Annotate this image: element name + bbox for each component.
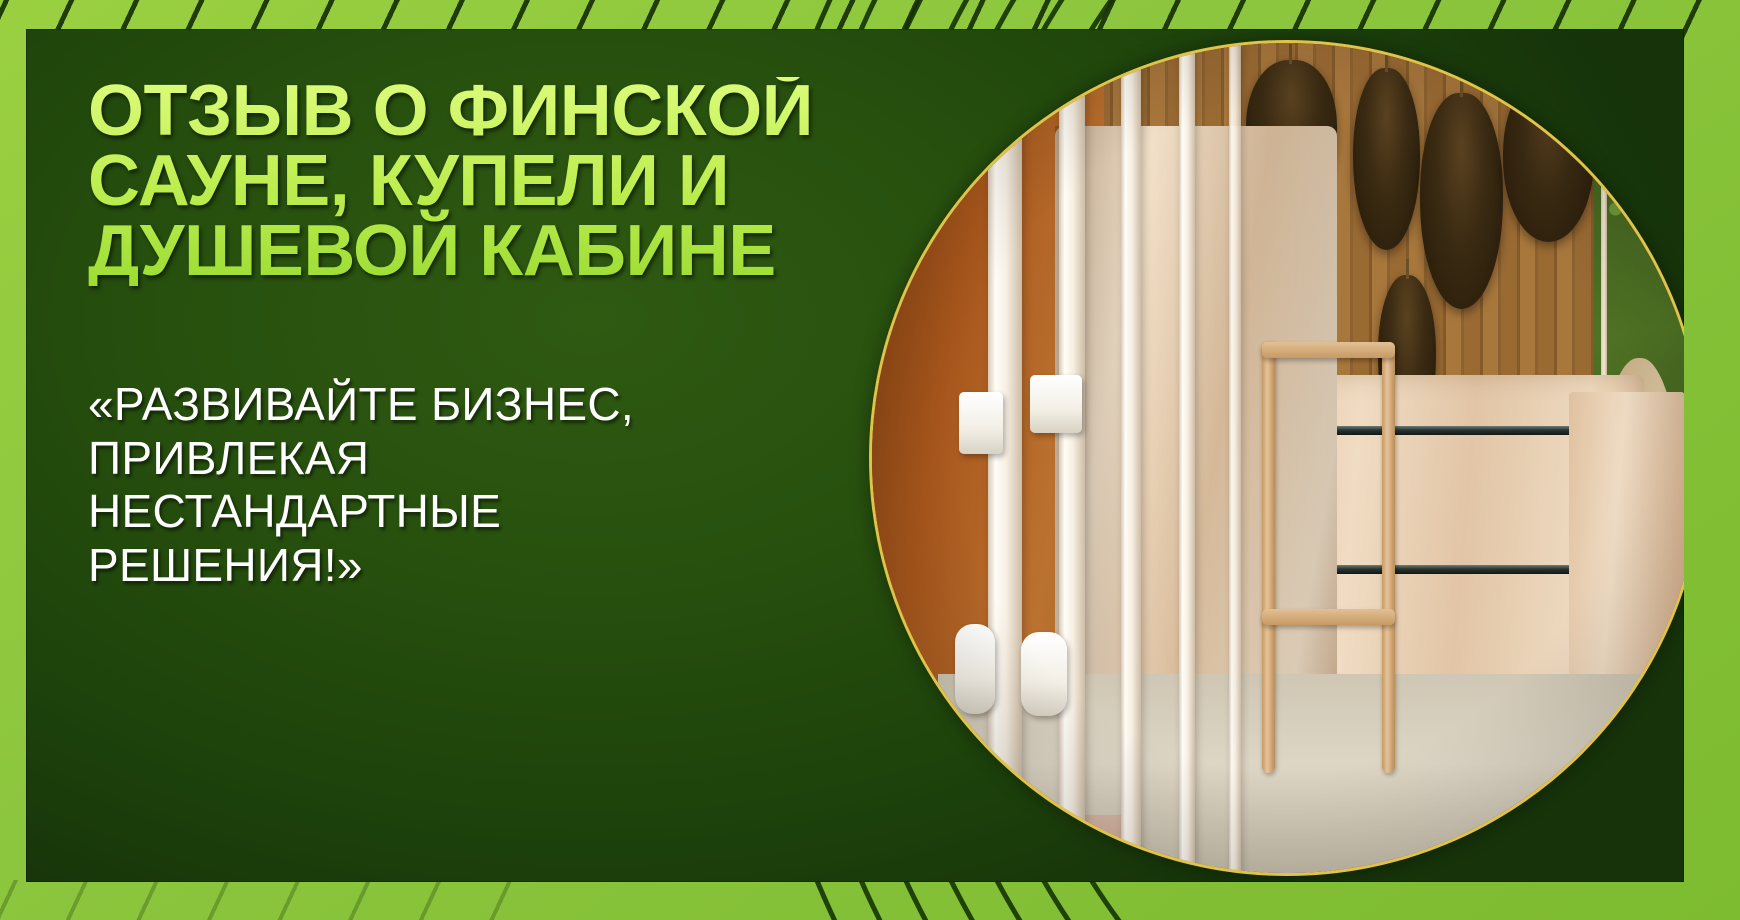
title-line: ОТЗЫВ О ФИНСКОЙ <box>88 77 848 147</box>
subtitle-line: «РАЗВИВАЙТЕ БИЗНЕС, <box>88 378 848 431</box>
subtitle-quote: «РАЗВИВАЙТЕ БИЗНЕС, ПРИВЛЕКАЯ НЕСТАНДАРТ… <box>88 286 848 591</box>
photo-vignette <box>872 43 1684 873</box>
sauna-photo <box>872 43 1684 873</box>
title-line: ДУШЕВОЙ КАБИНЕ <box>88 217 848 287</box>
subtitle-line: ПРИВЛЕКАЯ <box>88 432 848 485</box>
promo-banner: ОТЗЫВ О ФИНСКОЙ САУНЕ, КУПЕЛИ И ДУШЕВОЙ … <box>0 0 1740 920</box>
page-title: ОТЗЫВ О ФИНСКОЙ САУНЕ, КУПЕЛИ И ДУШЕВОЙ … <box>88 77 848 286</box>
title-line: САУНЕ, КУПЕЛИ И <box>88 147 848 217</box>
content-panel: ОТЗЫВ О ФИНСКОЙ САУНЕ, КУПЕЛИ И ДУШЕВОЙ … <box>26 29 1684 882</box>
subtitle-line: РЕШЕНИЯ!» <box>88 539 848 592</box>
subtitle-line: НЕСТАНДАРТНЫЕ <box>88 485 848 538</box>
text-block: ОТЗЫВ О ФИНСКОЙ САУНЕ, КУПЕЛИ И ДУШЕВОЙ … <box>88 77 848 592</box>
bottom-diagonal-stripes <box>0 880 560 920</box>
